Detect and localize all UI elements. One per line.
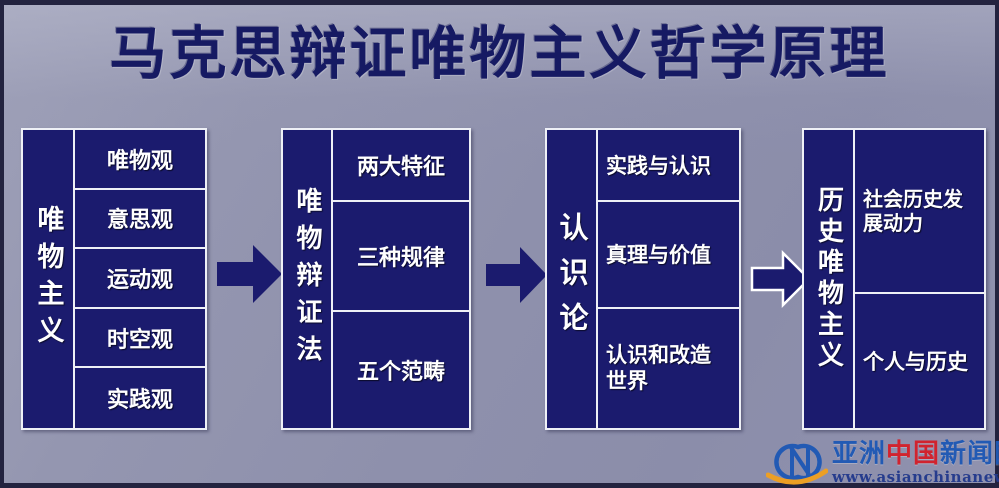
block-dialectics[interactable]: 唯物辩证法 两大特征 三种规律 五个范畴 <box>281 128 471 430</box>
logo-text-column: 亚洲 中国 新闻网 www.asianchinanews.com <box>832 441 999 486</box>
list-item[interactable]: 社会历史发展动力 <box>855 130 984 294</box>
logo-brand-part1: 亚洲 <box>832 441 886 467</box>
list-item[interactable]: 运动观 <box>75 249 205 309</box>
block-items-historical-materialism: 社会历史发展动力 个人与历史 <box>855 130 984 428</box>
block-label-text: 唯物辩证法 <box>294 187 320 372</box>
block-label-historical-materialism: 历史唯物主义 <box>804 130 855 428</box>
logo-brand-part2: 中国 <box>886 441 940 467</box>
logo-url[interactable]: www.asianchinanews.com <box>832 468 999 486</box>
block-label-text: 唯物主义 <box>35 205 62 353</box>
block-label-epistemology: 认识论 <box>547 130 598 428</box>
arrow-1-icon <box>217 243 283 305</box>
list-item[interactable]: 个人与历史 <box>855 294 984 428</box>
list-item[interactable]: 时空观 <box>75 309 205 369</box>
block-label-text: 认识论 <box>557 212 586 347</box>
list-item[interactable]: 实践观 <box>75 368 205 428</box>
diagram-canvas: 马克思辩证唯物主义哲学原理 唯物主义 唯物观 意思观 运动观 时空观 实践观 唯… <box>0 0 999 488</box>
logo-brand-part3: 新闻网 <box>940 441 999 467</box>
block-items-dialectics: 两大特征 三种规律 五个范畴 <box>333 130 469 428</box>
block-label-materialism: 唯物主义 <box>23 130 75 428</box>
site-watermark-logo: 亚洲 中国 新闻网 www.asianchinanews.com 亚 新 网 <box>766 439 999 487</box>
list-item[interactable]: 实践与认识 <box>598 130 739 202</box>
block-items-epistemology: 实践与认识 真理与价值 认识和改造世界 <box>598 130 739 428</box>
block-historical-materialism[interactable]: 历史唯物主义 社会历史发展动力 个人与历史 <box>802 128 986 430</box>
block-epistemology[interactable]: 认识论 实践与认识 真理与价值 认识和改造世界 <box>545 128 741 430</box>
block-items-materialism: 唯物观 意思观 运动观 时空观 实践观 <box>75 130 205 428</box>
list-item[interactable]: 两大特征 <box>333 130 469 202</box>
block-materialism[interactable]: 唯物主义 唯物观 意思观 运动观 时空观 实践观 <box>21 128 207 430</box>
page-title: 马克思辩证唯物主义哲学原理 <box>4 22 995 86</box>
block-label-text: 历史唯物主义 <box>816 186 842 372</box>
list-item[interactable]: 认识和改造世界 <box>598 309 739 428</box>
list-item[interactable]: 三种规律 <box>333 202 469 312</box>
list-item[interactable]: 真理与价值 <box>598 202 739 309</box>
list-item[interactable]: 意思观 <box>75 190 205 250</box>
list-item[interactable]: 唯物观 <box>75 130 205 190</box>
block-label-dialectics: 唯物辩证法 <box>283 130 333 428</box>
cn-monogram-icon <box>766 439 828 487</box>
logo-brand-row: 亚洲 中国 新闻网 <box>832 441 999 467</box>
arrow-2-icon <box>486 245 548 305</box>
list-item[interactable]: 五个范畴 <box>333 312 469 428</box>
